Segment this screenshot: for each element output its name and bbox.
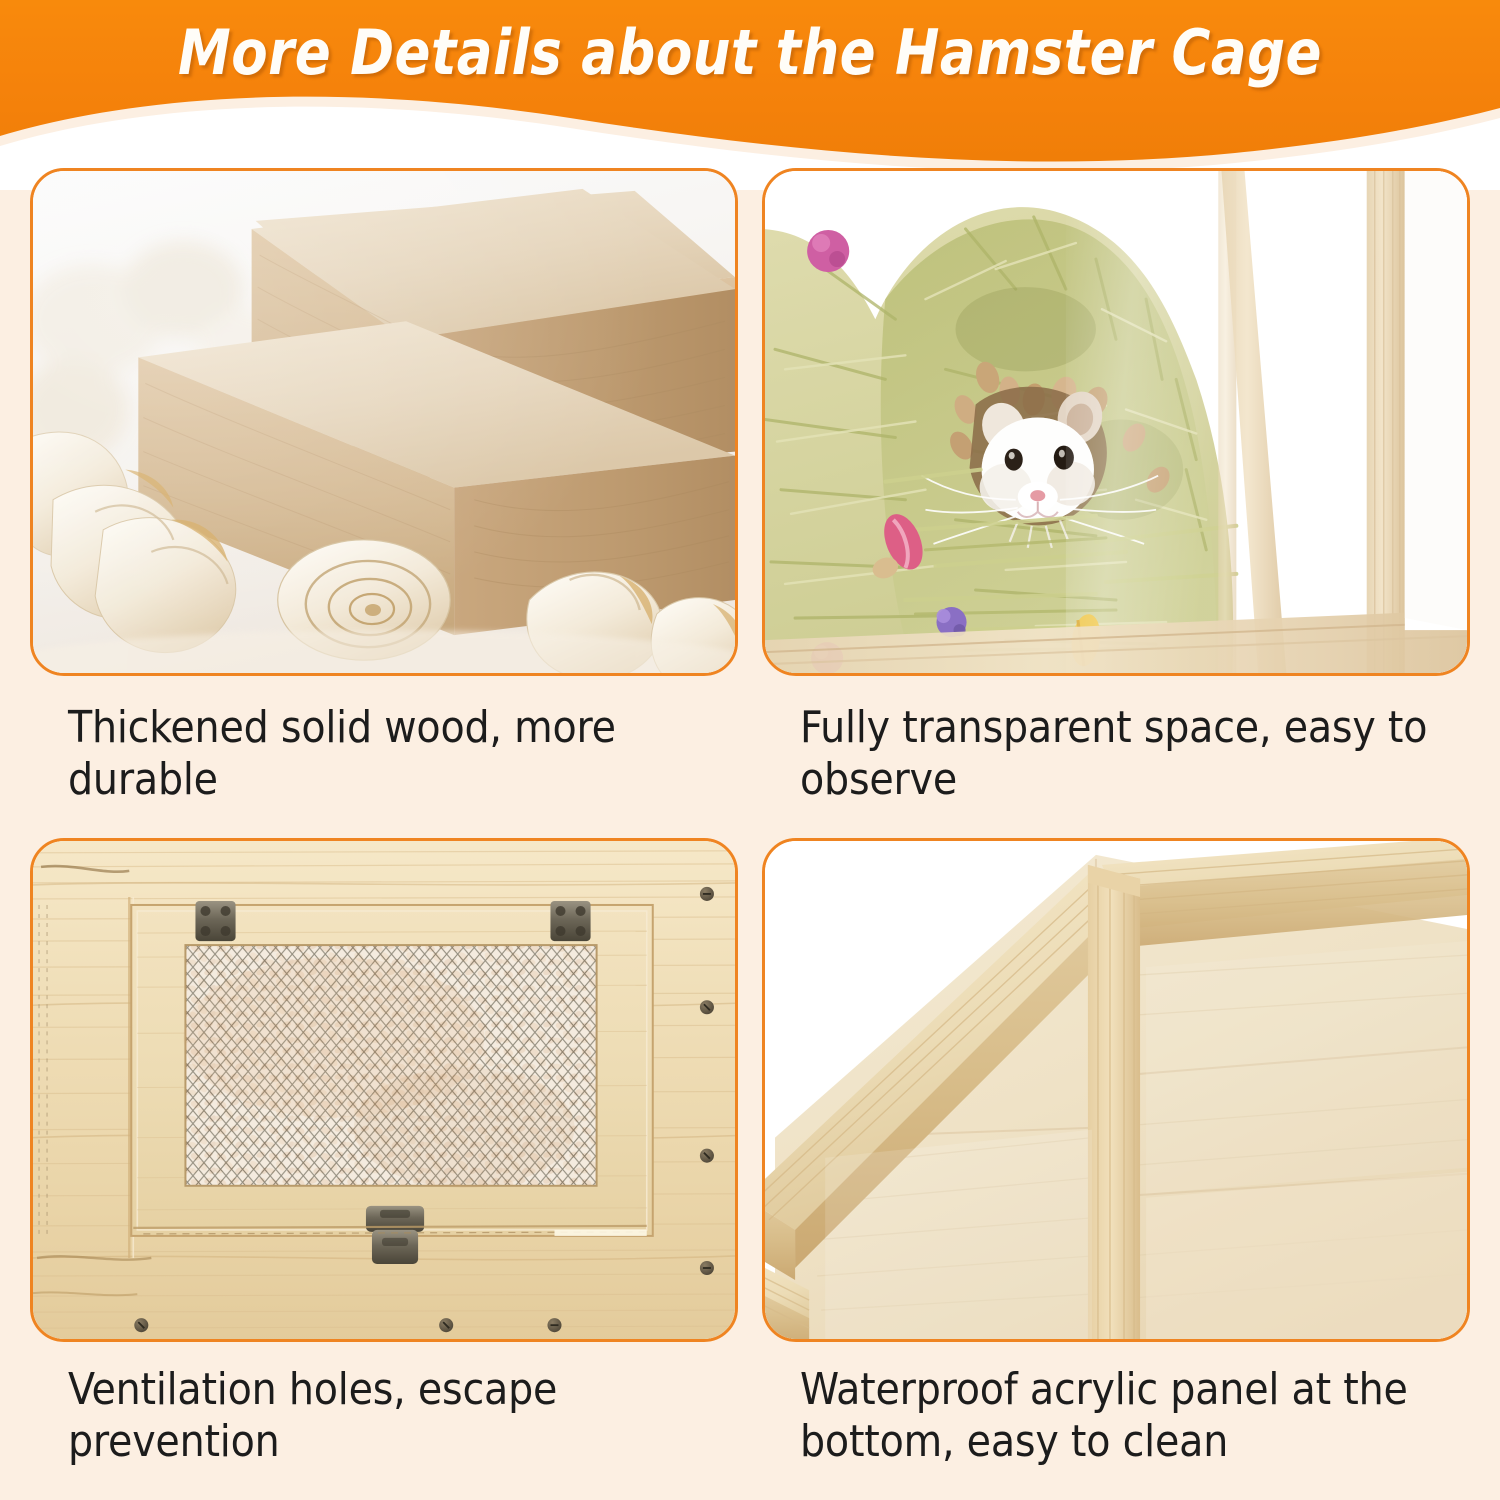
feature-card-ventilation-holes: Ventilation holes, escape prevention (30, 838, 738, 1500)
header-banner: More Details about the Hamster Cage (0, 0, 1500, 190)
door-hinge-left (195, 901, 235, 941)
photo-transparent-space (765, 171, 1467, 673)
door-hinge-right (550, 901, 590, 941)
photo-frame-ventilation (30, 838, 738, 1342)
door-latch (366, 1206, 424, 1264)
caption-ventilation-holes: Ventilation holes, escape prevention (68, 1364, 730, 1468)
caption-fully-transparent-space: Fully transparent space, easy to observe (800, 702, 1462, 806)
photo-ventilation-panel (33, 841, 735, 1339)
page-title: More Details about the Hamster Cage (76, 16, 1425, 89)
photo-frame-acrylic-panel (762, 838, 1470, 1342)
feature-grid: Thickened solid wood, more durable (0, 168, 1500, 1500)
feature-card-waterproof-acrylic-panel: Waterproof acrylic panel at the bottom, … (762, 838, 1470, 1500)
photo-frame-solid-wood (30, 168, 738, 676)
photo-solid-wood (33, 171, 735, 673)
photo-acrylic-panel (765, 841, 1467, 1339)
ventilation-mesh-window (183, 945, 596, 1188)
acrylic-sheen (1066, 171, 1226, 673)
caption-thickened-solid-wood: Thickened solid wood, more durable (68, 702, 730, 806)
feature-card-thickened-solid-wood: Thickened solid wood, more durable (30, 168, 738, 838)
corner-post (1088, 865, 1140, 1339)
caption-waterproof-acrylic-panel: Waterproof acrylic panel at the bottom, … (800, 1364, 1462, 1468)
photo-frame-transparent-space (762, 168, 1470, 676)
feature-card-fully-transparent-space: Fully transparent space, easy to observe (762, 168, 1470, 838)
